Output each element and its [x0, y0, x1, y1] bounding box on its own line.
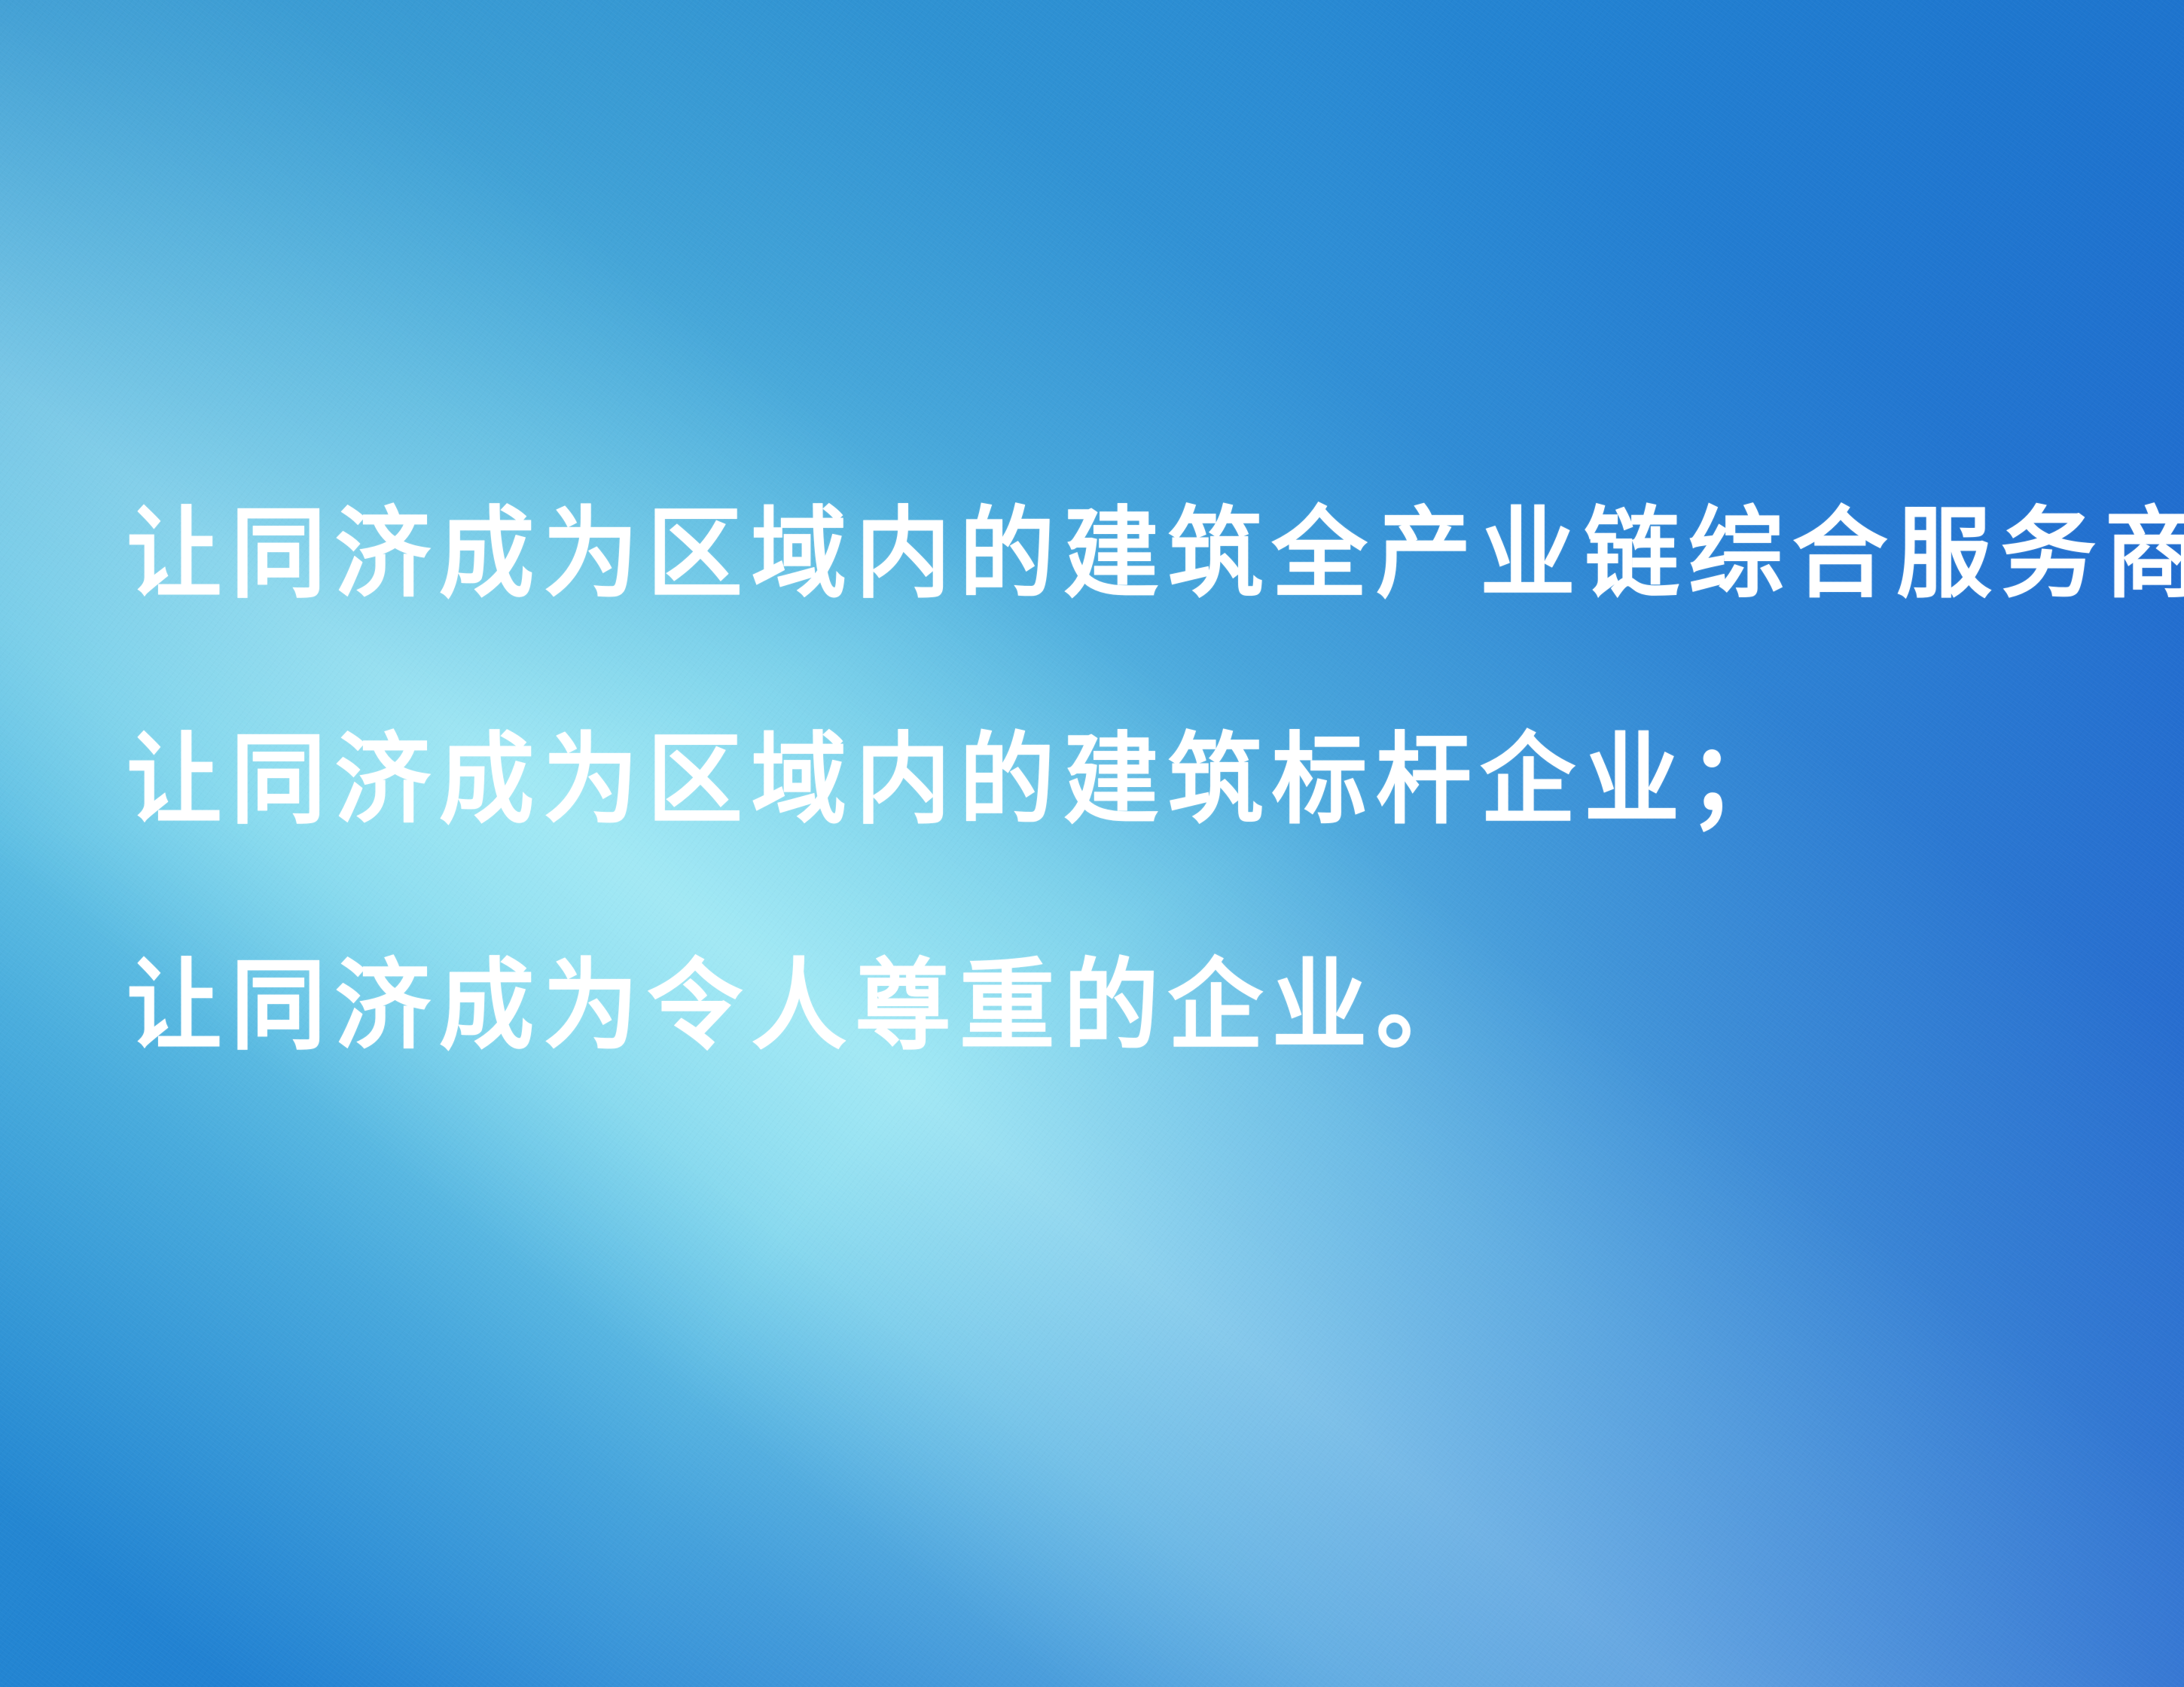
slide-text-line-2: 让同济成为区域内的建筑标杆企业；: [127, 667, 2006, 893]
slide-text-block: 让同济成为区域内的建筑全产业链综合服务商； 让同济成为区域内的建筑标杆企业； 让…: [127, 441, 2085, 1119]
slide-canvas: 让同济成为区域内的建筑全产业链综合服务商； 让同济成为区域内的建筑标杆企业； 让…: [0, 0, 2184, 1687]
slide-text-line-1: 让同济成为区域内的建筑全产业链综合服务商；: [127, 441, 2006, 667]
slide-text-line-3: 让同济成为令人尊重的企业。: [127, 893, 2006, 1119]
